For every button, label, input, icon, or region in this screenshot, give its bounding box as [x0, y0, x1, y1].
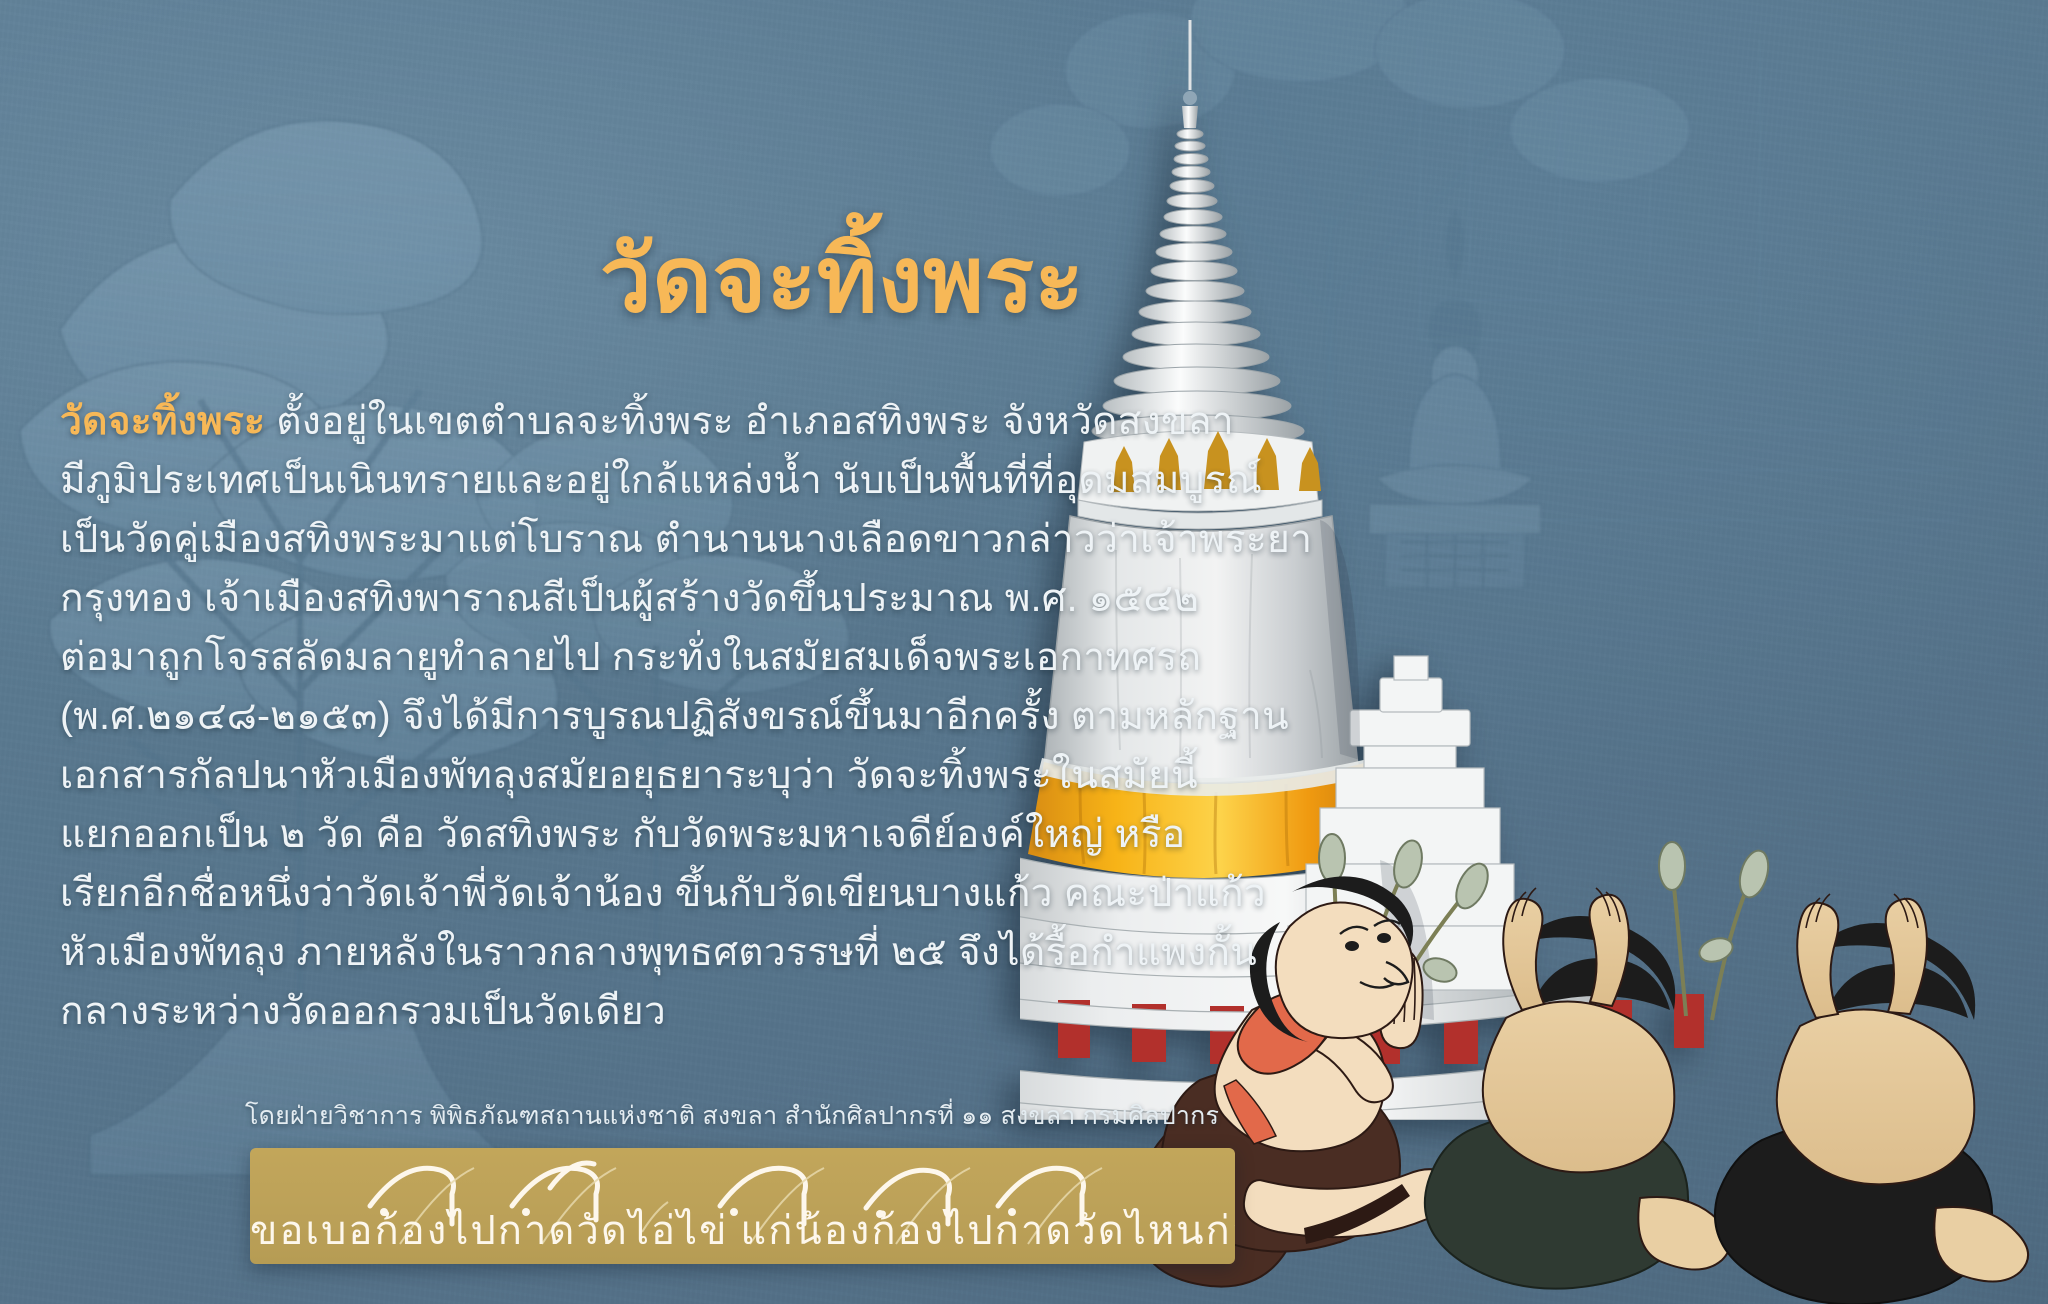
figure-man-right [1715, 894, 2028, 1304]
body-line: มีภูมิประเทศเป็นเนินทรายและอยู่ใกล้แหล่ง… [60, 451, 1060, 510]
body-text: วัดจะทิ้งพระ ตั้งอยู่ในเขตตำบลจะทิ้งพระ … [60, 392, 1060, 1041]
body-line: เป็นวัดคู่เมืองสทิงพระมาแต่โบราณ ตำนานนา… [60, 510, 1060, 569]
body-line: หัวเมืองพัทลุง ภายหลังในราวกลางพุทธศตวรร… [60, 923, 1060, 982]
body-line: แยกออกเป็น ๒ วัด คือ วัดสทิงพระ กับวัดพร… [60, 805, 1060, 864]
body-line: กลางระหว่างวัดออกรวมเป็นวัดเดียว [60, 982, 1060, 1041]
poster-canvas: วัดจะทิ้งพระ วัดจะทิ้งพระ ตั้งอยู่ในเขตต… [0, 0, 2048, 1304]
gold-banner: ขอเบอก้องไปกาดวัดไอ่ไข่ แก่น้องก้องไปกาด… [250, 1148, 1235, 1264]
body-line: วัดจะทิ้งพระ ตั้งอยู่ในเขตตำบลจะทิ้งพระ … [60, 392, 1060, 451]
body-line: เรียกอีกชื่อหนึ่งว่าวัดเจ้าพี่วัดเจ้าน้อ… [60, 864, 1060, 923]
lead-phrase: วัดจะทิ้งพระ [60, 400, 265, 443]
body-line: กรุงทอง เจ้าเมืองสทิงพาราณสีเป็นผู้สร้าง… [60, 569, 1060, 628]
figure-man-centre [1425, 888, 1730, 1289]
mural-figures [1140, 830, 2048, 1304]
banner-text: ขอเบอก้องไปกาดวัดไอ่ไข่ แก่น้องก้องไปกาด… [250, 1198, 1235, 1262]
body-line: เอกสารกัลปนาหัวเมืองพัทลุงสมัยอยุธยาระบุ… [60, 746, 1060, 805]
body-line: (พ.ศ.๒๑๔๘-๒๑๕๓) จึงได้มีการบูรณปฏิสังขรณ… [60, 687, 1060, 746]
credit-line: โดยฝ่ายวิชาการ พิพิธภัณฑสถานแห่งชาติ สงข… [245, 1096, 1035, 1136]
page-title-text: วัดจะทิ้งพระ [600, 232, 1084, 329]
body-line: ต่อมาถูกโจรสลัดมลายูทำลายไป กระทั่งในสมั… [60, 628, 1060, 687]
body-line-text: ตั้งอยู่ในเขตตำบลจะทิ้งพระ อำเภอสทิงพระ … [276, 400, 1234, 443]
